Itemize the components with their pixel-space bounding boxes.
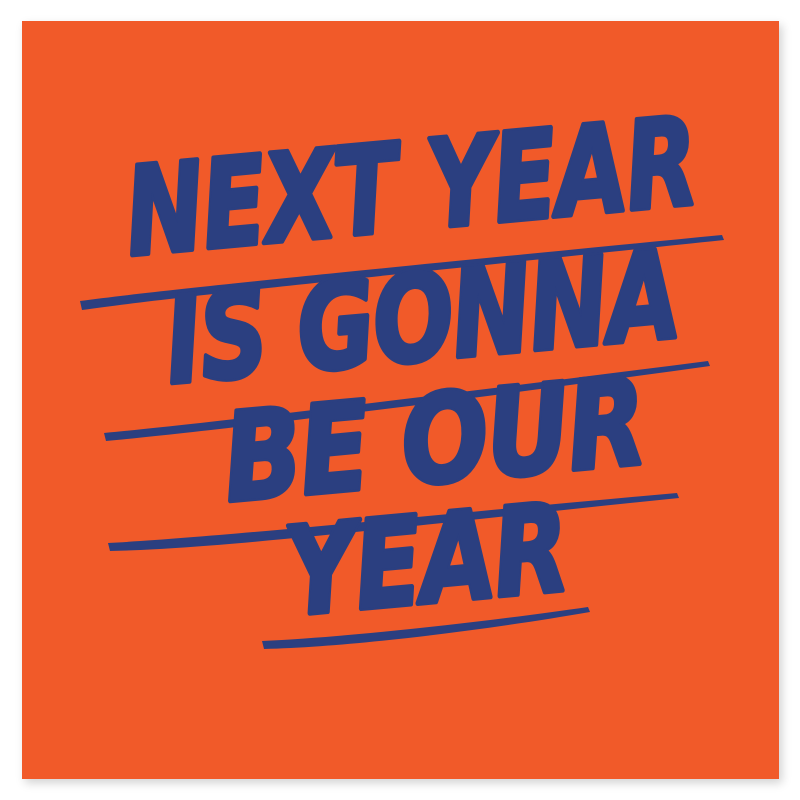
poster-root: NEXT YEAR IS GONNA BE OUR YEAR Next Ye bbox=[0, 0, 800, 800]
artwork-panel: NEXT YEAR IS GONNA BE OUR YEAR bbox=[22, 21, 779, 779]
artwork-canvas: NEXT YEAR IS GONNA BE OUR YEAR bbox=[22, 21, 779, 779]
